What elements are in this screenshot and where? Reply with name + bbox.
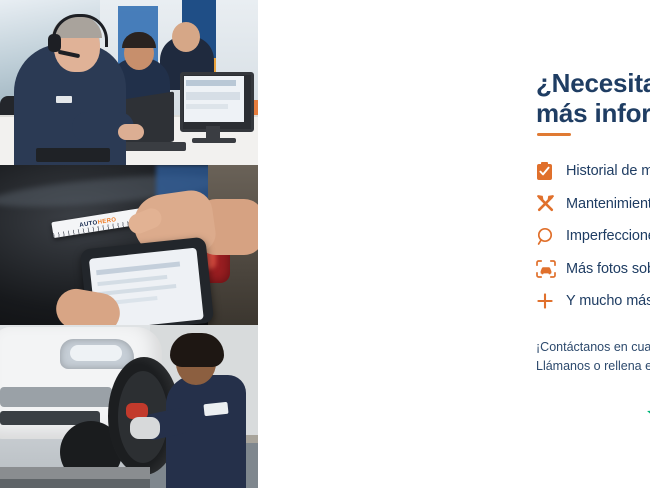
- headline-line-1: ¿Necesitas: [536, 68, 650, 98]
- car-bumper: [0, 387, 112, 407]
- technician-hair: [170, 333, 224, 367]
- feature-item-maintenance-done: Mantenimiento realizado: [536, 188, 650, 221]
- feature-list: Historial de mantenimientos Mantenimient…: [536, 155, 650, 318]
- feature-item-label: Historial de mantenimientos: [566, 163, 650, 179]
- information-banner: AUTOHERO: [0, 0, 650, 488]
- headline-line-2: más información?: [536, 99, 650, 129]
- feature-item-label: Y mucho más: [566, 293, 650, 309]
- technician-logo-badge: [203, 402, 228, 416]
- feature-item-label: Mantenimiento realizado: [566, 196, 650, 212]
- monitor-screen-row: [186, 92, 240, 100]
- contact-paragraph-line-1: ¡Contáctanos en cualquier momento para m…: [536, 340, 650, 354]
- technician-glove: [130, 417, 160, 439]
- photo-collage: AUTOHERO: [0, 0, 258, 488]
- trustpilot-star-icon: [646, 403, 650, 424]
- page-title: ¿Necesitas más información?: [536, 69, 650, 128]
- car-photo-frame-icon: [536, 260, 566, 278]
- feature-item-label: Más fotos sobre el coche: [566, 261, 650, 277]
- trustpilot-widget[interactable]: Trustpilot Excelente EMPRESA VERIFICADA: [646, 388, 650, 450]
- background-person-head: [172, 22, 200, 52]
- wheel-inspection-photo: [0, 325, 258, 488]
- contact-paragraph: ¡Contáctanos en cualquier momento para m…: [536, 338, 650, 378]
- magnifier-icon: [536, 227, 566, 246]
- clipboard-check-icon: [536, 162, 566, 181]
- monitor-screen-toolbar: [186, 80, 236, 86]
- car-lift-base: [0, 479, 150, 488]
- agent-hand: [118, 124, 144, 140]
- plus-icon: [536, 292, 566, 310]
- car-lift-ramp: [0, 467, 150, 479]
- feature-item-imperfections: Imperfecciones: [536, 220, 650, 253]
- trustpilot-logo[interactable]: Trustpilot: [646, 402, 650, 424]
- agent-name-badge: [56, 96, 72, 103]
- feature-item-label: Imperfecciones: [566, 228, 650, 244]
- content-panel: ¿Necesitas más información? Estamos enca…: [258, 0, 650, 488]
- car-headlight-inner: [70, 345, 122, 361]
- car-inspection-ruler-photo: AUTOHERO: [0, 165, 258, 325]
- tools-cross-icon: [536, 194, 566, 213]
- title-underline-rule: [537, 133, 571, 136]
- feature-item-much-more: Y mucho más: [536, 285, 650, 318]
- contact-paragraph-line-2: Llámanos o rellena el formulario de cont…: [536, 357, 650, 377]
- monitor-screen-row: [186, 104, 228, 109]
- feature-item-maintenance-history: Historial de mantenimientos: [536, 155, 650, 188]
- call-center-agents-photo: [0, 0, 258, 165]
- keyboard: [36, 148, 110, 162]
- monitor-foot: [192, 138, 236, 143]
- feature-item-more-photos: Más fotos sobre el coche: [536, 253, 650, 286]
